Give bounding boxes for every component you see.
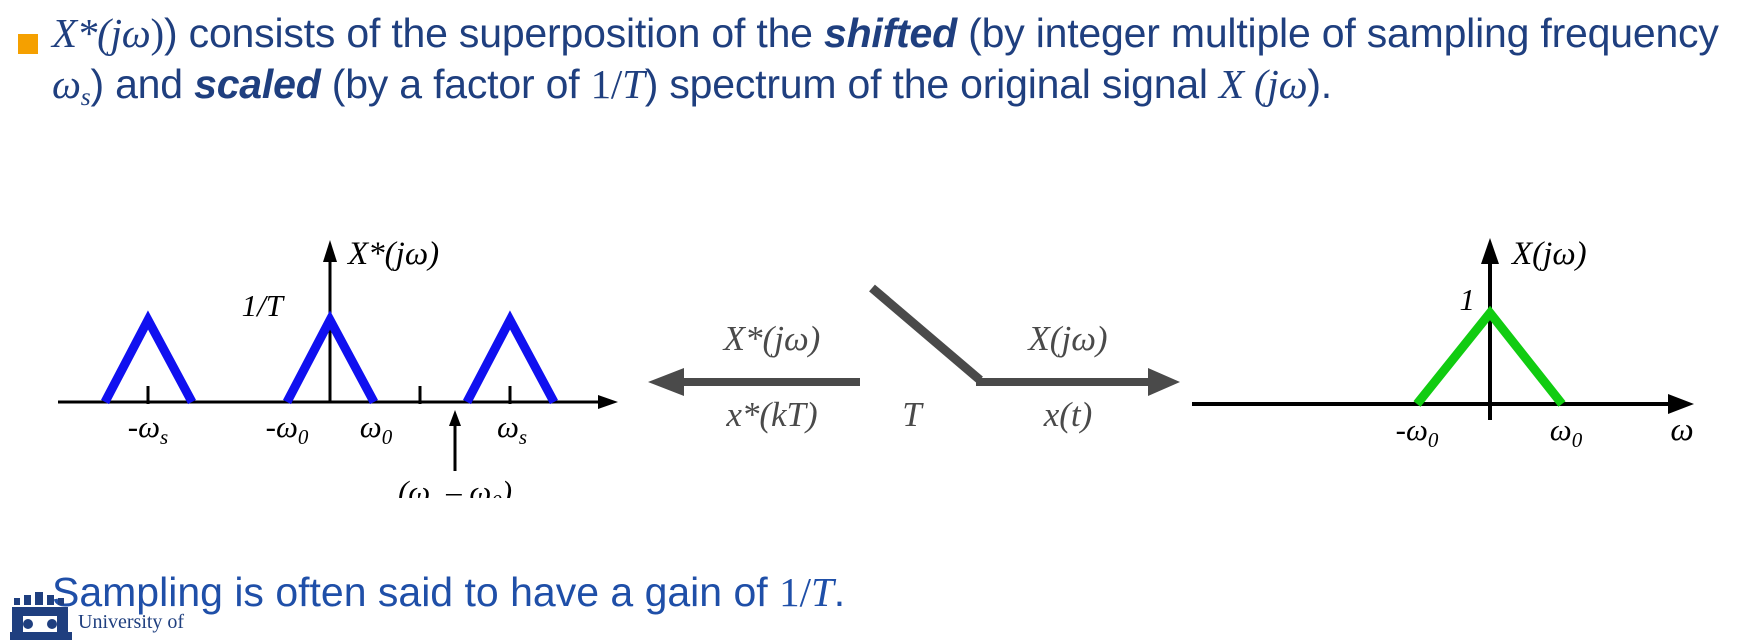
logo-caption: University of bbox=[78, 612, 184, 633]
summary-text-period: . bbox=[834, 569, 845, 615]
bullet-line3-end: ). bbox=[1307, 61, 1332, 107]
chart-original-spectrum: 1 X(jω) -ω0 ω0 ω bbox=[1192, 236, 1694, 452]
logo-dot-right bbox=[47, 619, 57, 629]
bullet-line3-X: X bbox=[1219, 61, 1244, 107]
logo-battlement-2 bbox=[24, 595, 31, 605]
y-axis-arrowhead-right bbox=[1481, 238, 1499, 264]
sampling-spectra-figure: 1/T X*(jω) -ωs -ω0 ω0 ωs (ωs – ω0) X*(jω… bbox=[0, 228, 1750, 498]
bullet-line1-text: ) consists of the superposition of the bbox=[164, 10, 824, 56]
chart-title-original: X(jω) bbox=[1510, 236, 1587, 272]
left-arrow-bottom-label: x*(kT) bbox=[725, 395, 817, 434]
left-arrow-top-label: X*(jω) bbox=[722, 319, 821, 358]
summary-text-main: Sampling is often said to have a gain of bbox=[52, 569, 779, 615]
bullet-line1-bold-shifted: shifted bbox=[824, 10, 957, 56]
chart-title-sampled: X*(jω) bbox=[346, 236, 439, 272]
left-arrow-head bbox=[648, 368, 684, 396]
y-axis-arrowhead-left bbox=[323, 240, 337, 262]
logo-battlement-3 bbox=[35, 592, 43, 605]
bullet-line2-omega: ω bbox=[52, 61, 81, 107]
bullet-line2-mid: ) and bbox=[90, 61, 194, 107]
x-ticklabel-right-omega-0: ω0 bbox=[1550, 412, 1583, 452]
x-axis-arrowhead-right bbox=[1668, 394, 1694, 414]
right-arrow-top-label: X(jω) bbox=[1026, 319, 1107, 358]
bullet-line2-bold-scaled: scaled bbox=[194, 61, 320, 107]
chart-sampled-spectrum: 1/T X*(jω) -ωs -ω0 ω0 ωs (ωs – ω0) bbox=[58, 236, 618, 498]
slide-canvas: X*(jω)) consists of the superposition of… bbox=[0, 0, 1750, 644]
x-ticklabel-omega-0: ω0 bbox=[360, 409, 393, 449]
summary-text-T: T bbox=[811, 569, 834, 615]
x-ticklabel-minus-omega-0: -ω0 bbox=[266, 409, 309, 449]
logo-battlement-4 bbox=[47, 595, 54, 605]
logo-dot-left bbox=[23, 619, 33, 629]
bullet-line3-text: ) spectrum of the original signal bbox=[645, 61, 1219, 107]
peak-label-one-over-T: 1/T bbox=[242, 288, 286, 323]
bullet-line2-tail: (by a factor of bbox=[321, 61, 580, 107]
bullet-line1-omega: ω bbox=[122, 10, 151, 56]
sampler-switch-lever bbox=[872, 288, 980, 380]
logo-wall bbox=[12, 607, 68, 616]
bullet-line1-tail: (by integer bbox=[957, 10, 1160, 56]
right-arrow-head bbox=[1148, 368, 1180, 396]
bullet-line1-math-x: X*(j bbox=[52, 10, 122, 56]
summary-text: Sampling is often said to have a gain of… bbox=[52, 568, 845, 616]
bullet-line3-one-over: 1/ bbox=[591, 61, 623, 107]
bullet-line3-jopen: (j bbox=[1244, 61, 1279, 107]
logo-tower-left bbox=[12, 616, 23, 632]
x-ticklabel-omega-s: ωs bbox=[497, 409, 527, 449]
annotation-omega-s-minus-omega-0: (ωs – ω0) bbox=[398, 474, 512, 498]
bullet-line3-T: T bbox=[622, 61, 645, 107]
bullet-text-block: X*(jω)) consists of the superposition of… bbox=[10, 8, 1740, 123]
bullet-paragraph: X*(jω)) consists of the superposition of… bbox=[10, 8, 1740, 123]
x-ticklabel-right-minus-omega-0: -ω0 bbox=[1396, 412, 1439, 452]
logo-caption-line: University of bbox=[78, 611, 184, 633]
logo-battlement-5 bbox=[58, 598, 64, 605]
summary-text-one-over: 1/ bbox=[779, 569, 811, 615]
peak-label-one: 1 bbox=[1460, 282, 1476, 317]
university-logo bbox=[10, 592, 72, 644]
logo-base bbox=[10, 632, 72, 640]
bullet-line2-omega-subscript: s bbox=[81, 83, 91, 111]
logo-battlement-1 bbox=[14, 598, 20, 605]
bullet-line3-omega: ω bbox=[1279, 61, 1308, 107]
sampler-block-diagram: X*(jω) x*(kT) T X(jω) x(t) bbox=[648, 288, 1180, 434]
bullet-marker-square bbox=[18, 34, 38, 54]
x-ticklabel-minus-omega-s: -ωs bbox=[128, 409, 168, 449]
x-axis-arrowhead-left bbox=[598, 395, 618, 409]
right-arrow-bottom-label: x(t) bbox=[1043, 395, 1093, 434]
logo-tower-right bbox=[57, 616, 68, 632]
sampler-period-label: T bbox=[902, 395, 924, 434]
bullet-line1-close: ) bbox=[151, 10, 164, 56]
bullet-line2-text: multiple of sampling frequency bbox=[1171, 10, 1719, 56]
callout-arrowhead bbox=[449, 410, 461, 426]
x-axis-label-omega: ω bbox=[1670, 412, 1693, 448]
